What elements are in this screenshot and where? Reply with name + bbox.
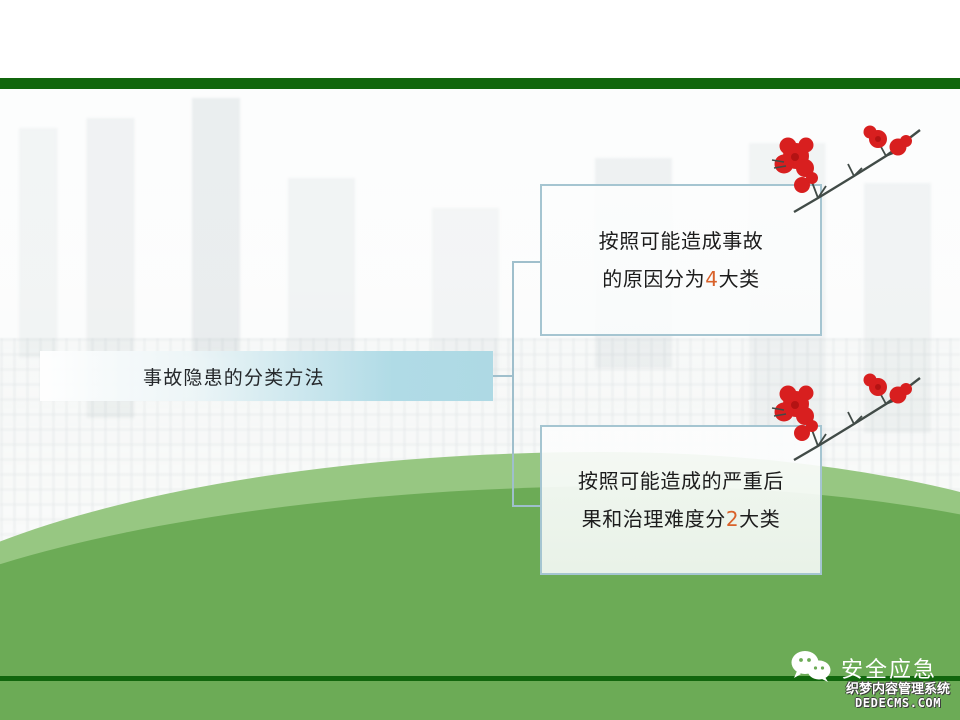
cause-line2-prefix: 的原因分为 (602, 267, 705, 291)
severity-count-number: 2 (726, 507, 739, 531)
slide-canvas: 事故隐患的分类方法 按照可能造成事故 的原因分为4大类 按照可能造成的严重后 果… (0, 0, 960, 720)
dedecms-watermark: 织梦内容管理系统 DEDECMS.COM (846, 683, 950, 710)
connector-stub-left (493, 375, 514, 377)
connector-stub-bottom (512, 505, 541, 507)
cause-count-number: 4 (705, 267, 718, 291)
watermark-domain-text: DEDECMS.COM (846, 697, 950, 710)
wechat-label: 安全应急 (841, 652, 937, 684)
content-box-severity-line1: 按照可能造成的严重后 (578, 471, 784, 491)
content-box-cause-line2: 的原因分为4大类 (602, 269, 760, 289)
connector-stub-top (512, 261, 541, 263)
wechat-icon (790, 650, 832, 686)
wechat-footer: 安全应急 (790, 650, 937, 686)
severity-line2-suffix: 大类 (739, 507, 780, 531)
cause-line2-suffix: 大类 (719, 267, 760, 291)
classification-label-bar: 事故隐患的分类方法 (40, 351, 493, 401)
plum-blossom-branch-icon (762, 360, 930, 472)
classification-label-text: 事故隐患的分类方法 (40, 363, 325, 390)
watermark-chinese-text: 织梦内容管理系统 (846, 683, 950, 697)
content-box-cause-line1: 按照可能造成事故 (599, 231, 764, 251)
severity-line2-prefix: 果和治理难度分 (582, 507, 726, 531)
connector-vertical (512, 262, 514, 507)
content-box-severity-line2: 果和治理难度分2大类 (582, 509, 781, 529)
plum-blossom-branch-icon (762, 112, 930, 224)
top-green-rule (0, 78, 960, 89)
